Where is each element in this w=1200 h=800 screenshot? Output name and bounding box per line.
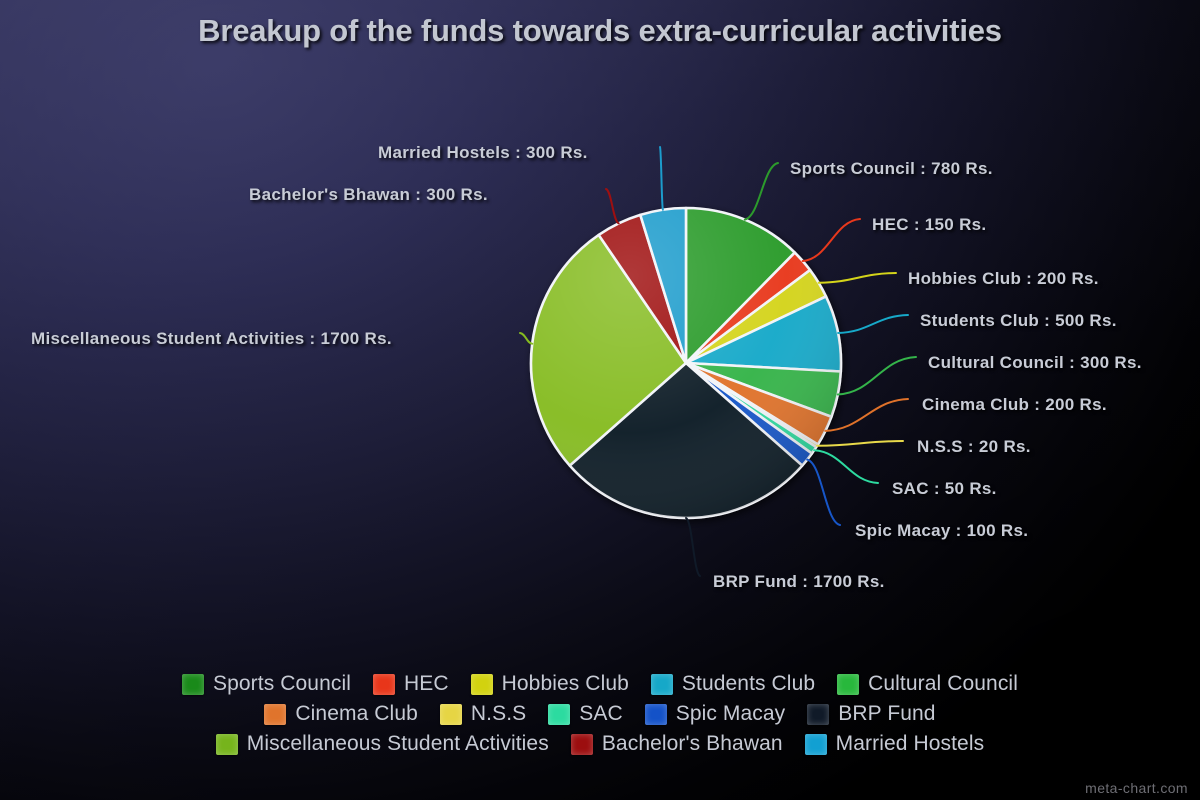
callout-cultural-council: Cultural Council : 300 Rs. — [928, 353, 1142, 373]
legend-swatch-icon — [264, 704, 286, 725]
legend-item-miscellaneous-student-activities[interactable]: Miscellaneous Student Activities — [216, 732, 549, 756]
legend-label: Students Club — [682, 672, 815, 696]
legend-item-brp-fund[interactable]: BRP Fund — [807, 702, 935, 726]
leader-line — [819, 273, 896, 283]
legend-item-hec[interactable]: HEC — [373, 672, 449, 696]
legend-label: Bachelor's Bhawan — [602, 732, 783, 756]
legend-swatch-icon — [373, 674, 395, 695]
leader-line — [838, 315, 908, 333]
legend-label: BRP Fund — [838, 702, 935, 726]
chart-legend: Sports CouncilHECHobbies ClubStudents Cl… — [0, 672, 1200, 756]
callout-students-club: Students Club : 500 Rs. — [920, 311, 1117, 331]
legend-item-spic-macay[interactable]: Spic Macay — [645, 702, 786, 726]
watermark: meta-chart.com — [1085, 780, 1188, 796]
legend-row: Sports CouncilHECHobbies ClubStudents Cl… — [182, 672, 1018, 696]
legend-label: SAC — [579, 702, 622, 726]
legend-label: Cultural Council — [868, 672, 1018, 696]
callout-bachelors-bhawan: Bachelor's Bhawan : 300 Rs. — [249, 185, 488, 205]
legend-swatch-icon — [548, 704, 570, 725]
legend-swatch-icon — [807, 704, 829, 725]
legend-swatch-icon — [471, 674, 493, 695]
legend-item-sac[interactable]: SAC — [548, 702, 622, 726]
callout-spic-macay: Spic Macay : 100 Rs. — [855, 521, 1028, 541]
legend-item-married-hostels[interactable]: Married Hostels — [805, 732, 985, 756]
leader-line — [660, 147, 663, 210]
legend-swatch-icon — [645, 704, 667, 725]
legend-swatch-icon — [182, 674, 204, 695]
legend-item-hobbies-club[interactable]: Hobbies Club — [471, 672, 629, 696]
legend-label: HEC — [404, 672, 449, 696]
callout-cinema-club: Cinema Club : 200 Rs. — [922, 395, 1107, 415]
legend-item-cinema-club[interactable]: Cinema Club — [264, 702, 418, 726]
legend-label: Sports Council — [213, 672, 351, 696]
legend-row: Miscellaneous Student ActivitiesBachelor… — [216, 732, 984, 756]
leader-line — [606, 189, 619, 223]
callout-sports-council: Sports Council : 780 Rs. — [790, 159, 993, 179]
legend-item-sports-council[interactable]: Sports Council — [182, 672, 351, 696]
pie-slices-group — [531, 208, 841, 518]
legend-swatch-icon — [440, 704, 462, 725]
leader-line — [825, 399, 908, 431]
leader-line — [520, 333, 532, 344]
callout-hec: HEC : 150 Rs. — [872, 215, 986, 235]
leader-line — [803, 219, 860, 261]
legend-swatch-icon — [216, 734, 238, 755]
legend-label: N.S.S — [471, 702, 526, 726]
legend-swatch-icon — [571, 734, 593, 755]
callout-miscellaneous: Miscellaneous Student Activities : 1700 … — [31, 329, 392, 349]
legend-item-cultural-council[interactable]: Cultural Council — [837, 672, 1018, 696]
callout-nss: N.S.S : 20 Rs. — [917, 437, 1031, 457]
legend-item-bachelor-s-bhawan[interactable]: Bachelor's Bhawan — [571, 732, 783, 756]
legend-label: Spic Macay — [676, 702, 786, 726]
callout-sac: SAC : 50 Rs. — [892, 479, 997, 499]
legend-label: Miscellaneous Student Activities — [247, 732, 549, 756]
legend-label: Cinema Club — [295, 702, 418, 726]
legend-swatch-icon — [651, 674, 673, 695]
leader-line — [817, 441, 903, 446]
leader-line — [838, 357, 916, 395]
callout-brp-fund: BRP Fund : 1700 Rs. — [713, 572, 885, 592]
leader-line — [745, 163, 778, 220]
legend-label: Hobbies Club — [502, 672, 629, 696]
legend-item-students-club[interactable]: Students Club — [651, 672, 815, 696]
chart-canvas: Breakup of the funds towards extra-curri… — [0, 0, 1200, 800]
legend-label: Married Hostels — [836, 732, 985, 756]
callout-hobbies-club: Hobbies Club : 200 Rs. — [908, 269, 1099, 289]
legend-swatch-icon — [805, 734, 827, 755]
leader-line — [814, 450, 878, 483]
legend-row: Cinema ClubN.S.SSACSpic MacayBRP Fund — [264, 702, 935, 726]
leader-line — [807, 460, 840, 525]
legend-item-n-s-s[interactable]: N.S.S — [440, 702, 526, 726]
callout-married-hostels: Married Hostels : 300 Rs. — [378, 143, 588, 163]
legend-swatch-icon — [837, 674, 859, 695]
leader-line — [686, 518, 700, 576]
